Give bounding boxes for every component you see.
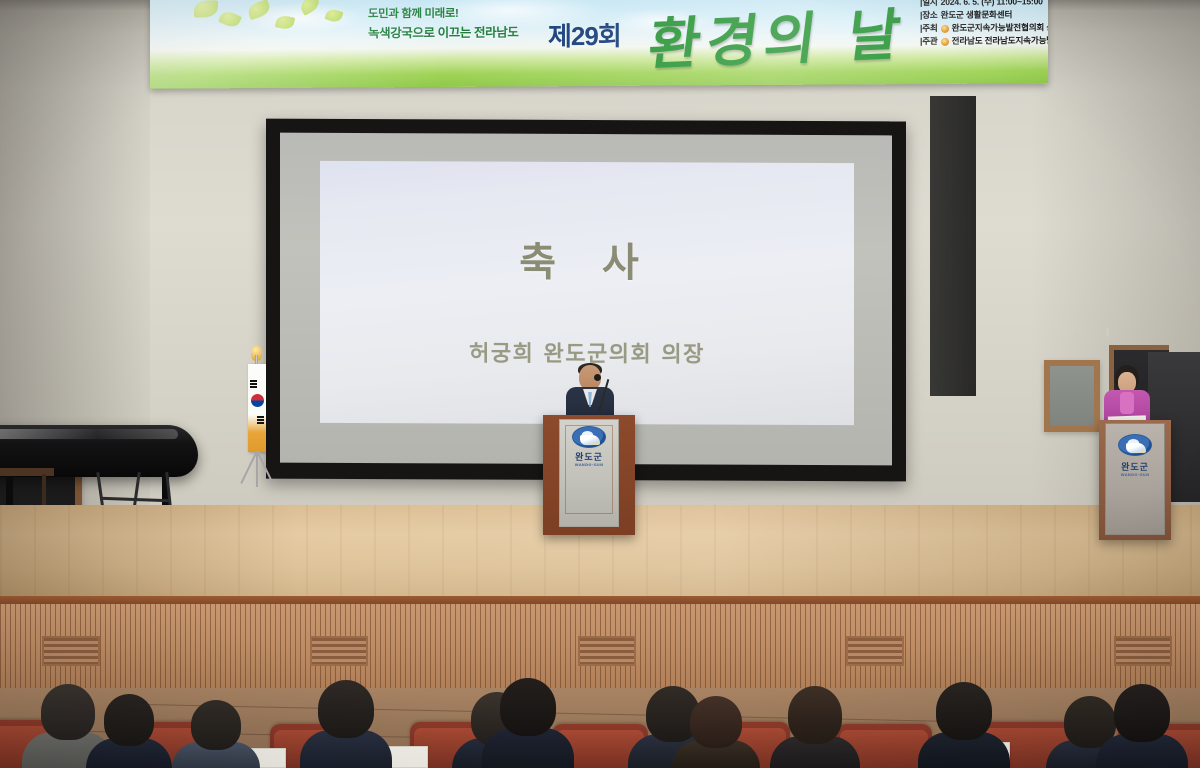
audience-person bbox=[482, 682, 574, 768]
jeonnam-emblem-icon bbox=[941, 38, 949, 46]
banner-info-key: |장소 bbox=[920, 9, 938, 22]
wall-hook-1 bbox=[1075, 330, 1078, 339]
banner-info-key: |일시 bbox=[920, 0, 938, 9]
main-podium-plate: 완도군 WANDO-GUN bbox=[559, 419, 619, 527]
banner-info-value: 완도군 생활문화센터 bbox=[941, 9, 1013, 22]
banner-info-row: |장소 완도군 생활문화센터 bbox=[920, 7, 1048, 22]
microphone-head-icon bbox=[594, 374, 601, 381]
banner-info-value: 완도군지속가능발전협의회 상임의장 장명일 bbox=[952, 21, 1048, 35]
wall-hook-2 bbox=[1106, 328, 1109, 337]
audience-area bbox=[0, 690, 1200, 768]
wando-county-emblem-icon bbox=[1118, 434, 1152, 456]
mc-podium-plate: 완도군 WANDO-GUN bbox=[1105, 423, 1165, 535]
stage-vent bbox=[846, 636, 904, 666]
stage-vent bbox=[578, 636, 636, 666]
audience-person bbox=[172, 704, 260, 768]
mc-podium-emblem-label: 완도군 WANDO-GUN bbox=[1106, 460, 1164, 477]
korean-flag-icon bbox=[248, 364, 266, 452]
slide-title: 축 사 bbox=[519, 230, 655, 289]
wall-panel-right-grey bbox=[1044, 360, 1100, 432]
banner-info-row: |주최 완도군지속가능발전협의회 상임의장 장명일 bbox=[920, 20, 1048, 35]
stage-vent bbox=[1114, 636, 1172, 666]
stage-curtain-right bbox=[930, 96, 976, 396]
main-podium-emblem-label: 완도군 WANDO-GUN bbox=[560, 450, 618, 467]
main-podium: 완도군 WANDO-GUN bbox=[543, 415, 635, 535]
audience-person bbox=[672, 702, 760, 768]
stage-vent bbox=[42, 636, 100, 666]
banner-info-key: |주관 bbox=[920, 35, 938, 48]
banner-info-row: |주관 전라남도 전라남도지속가능발전협의회 bbox=[920, 33, 1048, 48]
banner-info-value: 전라남도 전라남도지속가능발전협의회 bbox=[952, 34, 1048, 48]
audience-person bbox=[300, 684, 392, 768]
mc-podium: 완도군 WANDO-GUN bbox=[1099, 420, 1171, 540]
banner-info-block: |일시 2024. 6. 5. (수) 11:00~15:00 |장소 완도군 … bbox=[920, 0, 1048, 48]
mc-inner-top bbox=[1120, 392, 1134, 414]
korean-flag-stand bbox=[228, 355, 286, 487]
audience-person bbox=[86, 698, 172, 768]
photo-scene: 도민과 함께 미래로! 녹색강국으로 이끄는 전라남도 제29회 환경의 날 |… bbox=[0, 0, 1200, 768]
audience-person bbox=[770, 694, 860, 768]
audience-person bbox=[1096, 688, 1188, 768]
organizer-emblem-icon bbox=[941, 25, 949, 33]
piano-lid-reflection bbox=[0, 429, 178, 439]
banner-info-key: |주최 bbox=[920, 22, 938, 35]
taeguk-symbol bbox=[251, 394, 264, 407]
audience-person bbox=[918, 686, 1010, 768]
flag-tripod-legs bbox=[234, 451, 280, 487]
stage-vent bbox=[310, 636, 368, 666]
banner-info-value: 2024. 6. 5. (수) 11:00~15:00 bbox=[941, 0, 1043, 9]
wando-county-emblem-icon bbox=[572, 426, 606, 448]
event-banner: 도민과 함께 미래로! 녹색강국으로 이끄는 전라남도 제29회 환경의 날 |… bbox=[150, 0, 1048, 89]
banner-title: 환경의 날 bbox=[644, 0, 911, 81]
mc-person bbox=[1104, 366, 1150, 426]
banner-ordinal: 제29회 bbox=[548, 16, 621, 53]
